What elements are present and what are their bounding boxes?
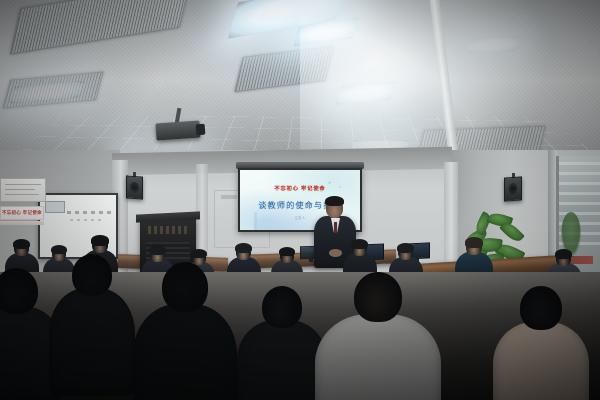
attendee-torso	[133, 304, 237, 400]
attendee-hair	[351, 239, 368, 249]
wall-banner-strip	[0, 221, 44, 225]
attendee-hair	[397, 243, 414, 253]
attendee-torso	[49, 288, 135, 396]
whiteboard-writing	[70, 219, 104, 221]
blind-slat	[559, 172, 600, 175]
slide-red-banner: 不忘初心 牢记使命	[240, 185, 360, 192]
blind-slat	[559, 162, 600, 165]
attendee-head	[262, 286, 302, 328]
attendee-hair	[91, 235, 109, 246]
presenter-hands	[329, 249, 342, 257]
attendee-hair	[13, 239, 30, 249]
presenter-hair	[325, 196, 344, 206]
attendee-hair	[235, 243, 252, 253]
attendee-head	[162, 262, 208, 312]
poster-line	[5, 184, 41, 185]
attendee-head	[72, 254, 112, 296]
attendee-head	[520, 286, 562, 330]
attendee-hair	[191, 249, 207, 258]
blind-slat	[559, 192, 600, 195]
blind-slat	[559, 182, 600, 185]
lecture-hall-photo: ➤ ➤ ➤ 不忘初心 牢记使命 谈教师的使命与担当 主讲人 不忘初心 牢记使命	[0, 0, 600, 400]
attendee-hair	[149, 245, 166, 255]
attendee-torso	[493, 322, 589, 400]
attendee-hair	[279, 247, 295, 256]
lectern-nameplate	[148, 226, 188, 234]
projector-lens-icon	[196, 124, 206, 136]
presenter-tie	[334, 222, 337, 233]
plant-leaf	[499, 219, 525, 244]
attendee-head	[354, 272, 402, 322]
wall-banner-text: 不忘初心 牢记使命	[2, 210, 42, 216]
wall-red-banner: 不忘初心 牢记使命	[0, 206, 44, 220]
whiteboard-note	[45, 201, 65, 213]
attendee-hair	[51, 245, 67, 254]
attendee-hair	[465, 237, 483, 248]
attendee-torso	[315, 314, 441, 400]
attendee-torso	[237, 320, 327, 400]
door-sign	[221, 195, 237, 199]
attendee-hair	[555, 249, 572, 259]
wall-speaker-left	[126, 175, 143, 199]
wall-speaker-right	[504, 176, 522, 201]
ceiling-projector	[155, 120, 200, 140]
wall-poster	[0, 178, 46, 202]
poster-line	[5, 194, 39, 195]
whiteboard-writing	[67, 211, 115, 214]
poster-line	[5, 189, 35, 190]
blind-slat	[559, 202, 600, 205]
attendee-head	[0, 268, 38, 314]
ceiling-light-panel	[466, 37, 520, 54]
